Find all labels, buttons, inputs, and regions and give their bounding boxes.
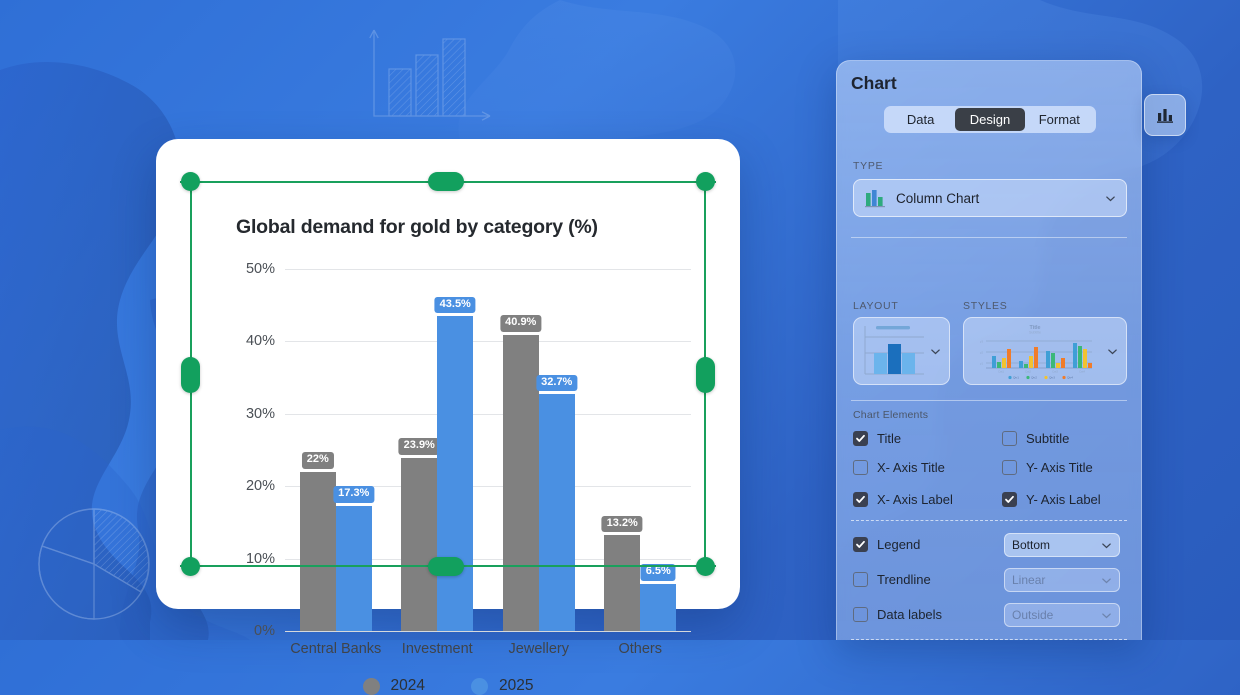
chevron-down-icon [1101, 540, 1112, 551]
resize-handle-bottom-center[interactable] [428, 557, 464, 576]
legend-position-value: Bottom [1012, 538, 1097, 552]
panel-dashed-divider-1 [851, 520, 1127, 521]
tab-design[interactable]: Design [955, 108, 1024, 131]
svg-text:y2: y2 [980, 351, 984, 355]
tab-data[interactable]: Data [886, 108, 955, 131]
bar[interactable]: 13.2% [604, 535, 640, 631]
svg-text:y3: y3 [980, 340, 984, 344]
svg-text:y1: y1 [980, 362, 984, 366]
y-axis-tick-label: 30% [246, 406, 275, 422]
checkbox-subtitle-box[interactable] [1002, 431, 1017, 446]
chart-legend: 20242025 [173, 677, 723, 695]
checkbox-y-axis-title-label: Y- Axis Title [1026, 460, 1093, 475]
styles-preview-graphic: Title Subtitle y3 y2 y1 Cat1 Cat2 Cat3 C… [964, 320, 1106, 382]
bar[interactable]: 23.9% [401, 458, 437, 631]
bar[interactable]: 43.5% [437, 316, 473, 631]
svg-text:Qtr2: Qtr2 [1031, 376, 1037, 380]
bar-group[interactable]: 22%17.3%Central Banks [285, 269, 387, 631]
legend-swatch [471, 678, 488, 695]
chevron-down-icon [1101, 610, 1112, 621]
checkbox-title[interactable]: Title [853, 431, 901, 446]
checkbox-y-axis-label-label: Y- Axis Label [1026, 492, 1101, 507]
x-axis-tick-label: Investment [402, 641, 473, 657]
checkbox-title-box[interactable] [853, 431, 868, 446]
y-axis-tick-label: 50% [246, 261, 275, 277]
panel-title: Chart [851, 73, 897, 94]
legend-label: 2024 [391, 677, 425, 695]
resize-handle-middle-left[interactable] [181, 357, 200, 393]
resize-handle-middle-right[interactable] [696, 357, 715, 393]
layout-preview-thumbnail[interactable] [853, 317, 950, 385]
svg-text:Qtr1: Qtr1 [1013, 376, 1019, 380]
styles-section-label: STYLES [963, 300, 1007, 312]
layout-section-label: LAYOUT [853, 300, 898, 312]
panel-divider-2 [851, 400, 1127, 401]
checkbox-data-labels[interactable]: Data labels [853, 607, 942, 622]
chart-type-value: Column Chart [896, 191, 1095, 206]
x-axis-tick-label: Others [618, 641, 662, 657]
checkbox-x-axis-title-label: X- Axis Title [877, 460, 945, 475]
chart-title: Global demand for gold by category (%) [236, 216, 598, 239]
svg-text:Subtitle: Subtitle [1029, 331, 1041, 335]
checkbox-data-labels-box[interactable] [853, 607, 868, 622]
type-section-label: TYPE [853, 160, 883, 172]
resize-handle-bottom-right[interactable] [696, 557, 715, 576]
legend-position-select[interactable]: Bottom [1004, 533, 1120, 557]
svg-text:Cat2: Cat2 [1025, 369, 1031, 373]
trendline-type-value: Linear [1012, 573, 1097, 587]
checkbox-trendline-label: Trendline [877, 572, 931, 587]
chart-type-select[interactable]: Column Chart [853, 179, 1127, 217]
legend-item[interactable]: 2024 [363, 677, 425, 695]
bar[interactable]: 22% [300, 472, 336, 631]
bar-data-label: 13.2% [602, 516, 643, 533]
resize-handle-top-center[interactable] [428, 172, 464, 191]
checkbox-y-axis-title-box[interactable] [1002, 460, 1017, 475]
checkbox-x-axis-title[interactable]: X- Axis Title [853, 460, 945, 475]
chart-elements-label: Chart Elements [853, 409, 928, 421]
chevron-down-icon [1101, 575, 1112, 586]
y-axis-tick-label: 0% [254, 623, 275, 639]
checkbox-trendline-box[interactable] [853, 572, 868, 587]
checkbox-y-axis-label[interactable]: Y- Axis Label [1002, 492, 1101, 507]
chart-canvas[interactable]: Global demand for gold by category (%) 0… [173, 156, 723, 592]
checkbox-legend-label: Legend [877, 537, 920, 552]
checkbox-x-axis-label[interactable]: X- Axis Label [853, 492, 953, 507]
data-labels-position-select[interactable]: Outside [1004, 603, 1120, 627]
svg-text:Cat3: Cat3 [1052, 369, 1058, 373]
data-labels-position-value: Outside [1012, 608, 1097, 622]
bar-data-label: 40.9% [500, 315, 541, 332]
chevron-down-icon [1105, 193, 1116, 204]
bar-data-label: 32.7% [536, 375, 577, 392]
y-axis-tick-label: 20% [246, 478, 275, 494]
bar-data-label: 17.3% [333, 486, 374, 503]
x-axis-tick-label: Jewellery [509, 641, 569, 657]
y-axis-tick-label: 40% [246, 333, 275, 349]
legend-swatch [363, 678, 380, 695]
pie-chart-watermark-icon [28, 498, 160, 630]
panel-divider-1 [851, 237, 1127, 238]
panel-tab-group: Data Design Format [884, 106, 1096, 133]
layout-chevron-down-icon [930, 346, 941, 357]
checkbox-y-axis-title[interactable]: Y- Axis Title [1002, 460, 1093, 475]
bar-data-label: 22% [302, 452, 334, 469]
checkbox-subtitle-label: Subtitle [1026, 431, 1069, 446]
checkbox-x-axis-label-box[interactable] [853, 492, 868, 507]
bar[interactable]: 17.3% [336, 506, 372, 631]
bar-chart-icon [1155, 105, 1175, 125]
resize-handle-top-left[interactable] [181, 172, 200, 191]
svg-text:Qtr4: Qtr4 [1067, 376, 1073, 380]
bar-fill [300, 472, 336, 631]
legend-item[interactable]: 2025 [471, 677, 533, 695]
checkbox-title-label: Title [877, 431, 901, 446]
bar[interactable]: 32.7% [539, 394, 575, 631]
x-axis-tick-label: Central Banks [290, 641, 381, 657]
checkbox-legend-box[interactable] [853, 537, 868, 552]
checkbox-y-axis-label-box[interactable] [1002, 492, 1017, 507]
resize-handle-bottom-left[interactable] [181, 557, 200, 576]
bar-fill [437, 316, 473, 631]
bar-data-label: 23.9% [399, 438, 440, 455]
chart-tool-button[interactable] [1144, 94, 1186, 136]
bar-group[interactable]: 23.9%43.5%Investment [387, 269, 489, 631]
column-chart-icon [864, 187, 886, 209]
chart-plot-area: 0%10%20%30%40%50%22%17.3%Central Banks23… [285, 269, 691, 631]
legend-label: 2025 [499, 677, 533, 695]
svg-text:Cat4: Cat4 [1079, 369, 1085, 373]
chart-object-card[interactable]: Global demand for gold by category (%) 0… [156, 139, 740, 609]
checkbox-x-axis-title-box[interactable] [853, 460, 868, 475]
checkbox-legend[interactable]: Legend [853, 537, 920, 552]
bar-fill [336, 506, 372, 631]
bar-fill [401, 458, 437, 631]
checkbox-x-axis-label-label: X- Axis Label [877, 492, 953, 507]
svg-text:Cat1: Cat1 [998, 369, 1004, 373]
layout-preview-graphic [854, 320, 930, 382]
bar-fill [604, 535, 640, 631]
resize-handle-top-right[interactable] [696, 172, 715, 191]
chart-settings-panel: Chart Data Design Format TYPE Column Cha… [836, 60, 1142, 640]
checkbox-subtitle[interactable]: Subtitle [1002, 431, 1069, 446]
bar-chart-watermark-icon [358, 22, 498, 130]
checkbox-trendline[interactable]: Trendline [853, 572, 931, 587]
bar[interactable]: 40.9% [503, 335, 539, 631]
bar-group[interactable]: 40.9%32.7%Jewellery [488, 269, 590, 631]
bar-data-label: 43.5% [435, 297, 476, 314]
bar-fill [640, 584, 676, 631]
bar[interactable]: 6.5% [640, 584, 676, 631]
trendline-type-select[interactable]: Linear [1004, 568, 1120, 592]
bar-group[interactable]: 13.2%6.5%Others [590, 269, 692, 631]
checkbox-data-labels-label: Data labels [877, 607, 942, 622]
bar-fill [503, 335, 539, 631]
styles-chevron-down-icon [1107, 346, 1118, 357]
styles-preview-thumbnail[interactable]: Title Subtitle y3 y2 y1 Cat1 Cat2 Cat3 C… [963, 317, 1127, 385]
gridline: 0% [285, 631, 691, 632]
svg-text:Qtr3: Qtr3 [1049, 376, 1055, 380]
tab-format[interactable]: Format [1025, 108, 1094, 131]
bar-fill [539, 394, 575, 631]
